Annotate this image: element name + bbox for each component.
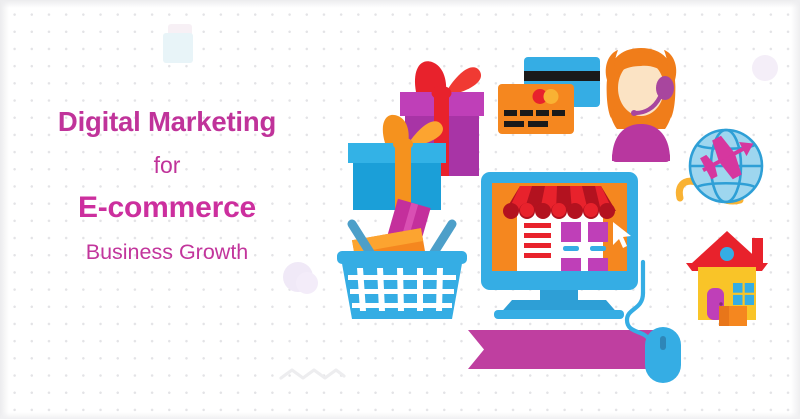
desktop-monitor-storefront-icon — [481, 172, 638, 319]
banner-canvas: Digital Marketing for E-commerce Busines… — [0, 0, 800, 419]
zigzag-decoration-icon — [281, 370, 344, 378]
edge-shadow-left — [0, 0, 9, 419]
computer-mouse-icon — [645, 327, 681, 383]
globe-airplane-icon — [679, 124, 763, 202]
illustration-layer — [0, 0, 800, 419]
credit-card-orange-icon — [498, 84, 574, 134]
shopping-basket-icon — [337, 199, 467, 319]
edge-shadow-bottom — [0, 412, 800, 419]
edge-shadow-top — [0, 0, 800, 8]
edge-shadow-right — [791, 0, 800, 419]
support-agent-icon — [606, 48, 677, 162]
gift-box-blue-icon — [348, 115, 446, 210]
house-delivery-icon — [686, 231, 768, 326]
ribbon-banner-icon — [468, 330, 657, 369]
